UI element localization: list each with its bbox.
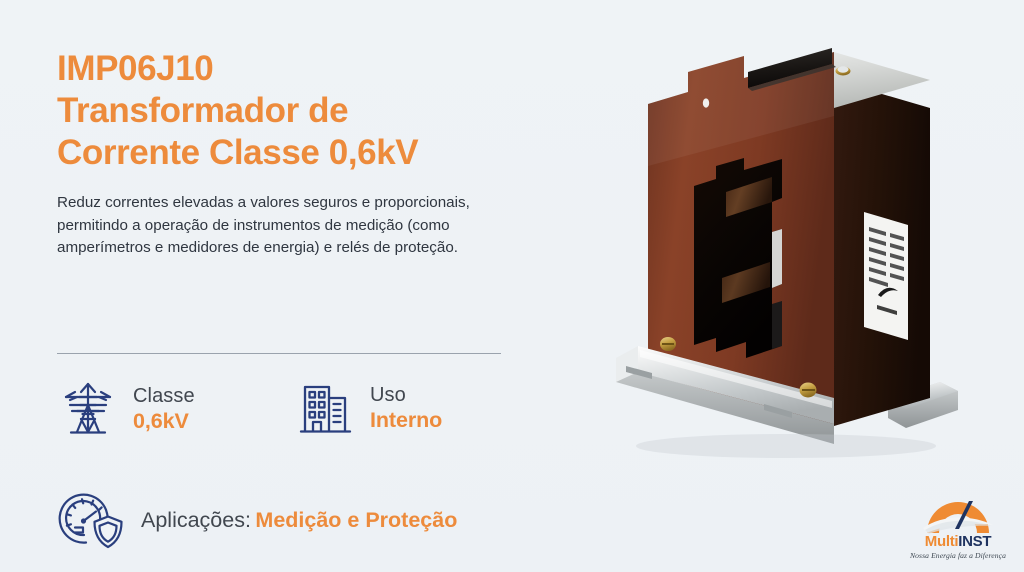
logo-tagline: Nossa Energia faz a Diferença (896, 551, 1020, 560)
feature-uso: Uso Interno (296, 378, 442, 438)
section-divider (57, 353, 501, 354)
product-description: Reduz correntes elevadas a valores segur… (57, 192, 505, 260)
feature-aplicacoes: Aplicações: Medição e Proteção (55, 486, 457, 554)
logo-word-multi: Multi (925, 533, 959, 550)
current-transformer-photo (596, 46, 1016, 496)
headline-line-1: IMP06J10 (57, 48, 527, 90)
feature-uso-value: Interno (370, 408, 442, 432)
front-vent-hole (703, 98, 709, 107)
logo-word-inst: INST (958, 533, 991, 550)
product-banner: IMP06J10 Transformador de Corrente Class… (0, 0, 1024, 572)
multiinst-logo-mark (919, 495, 997, 535)
feature-aplicacoes-label: Aplicações: (141, 508, 251, 532)
headline-line-3: Corrente Classe 0,6kV (57, 132, 527, 174)
feature-uso-label: Uso (370, 384, 442, 406)
gauge-shield-icon (55, 486, 127, 554)
feature-classe-label: Classe (133, 385, 195, 407)
transformer-window (694, 158, 782, 358)
text-column: IMP06J10 Transformador de Corrente Class… (57, 48, 527, 260)
feature-aplicacoes-value: Medição e Proteção (255, 508, 457, 532)
feature-classe: Classe 0,6kV (57, 378, 195, 440)
feature-classe-text: Classe 0,6kV (133, 385, 195, 433)
product-shadow (636, 434, 936, 458)
transmission-tower-icon (57, 378, 119, 440)
base-screw-top (660, 337, 676, 351)
logo-wordmark: MultiINST (896, 534, 1020, 549)
feature-uso-text: Uso Interno (370, 384, 442, 432)
page-title: IMP06J10 Transformador de Corrente Class… (57, 48, 527, 174)
feature-classe-value: 0,6kV (133, 409, 195, 433)
company-logo: MultiINST Nossa Energia faz a Diferença (896, 495, 1020, 561)
building-icon (296, 378, 356, 438)
base-screw-bottom (800, 383, 817, 398)
feature-aplicacoes-text: Aplicações: Medição e Proteção (141, 508, 457, 533)
headline-line-2: Transformador de (57, 90, 527, 132)
nameplate-label (864, 212, 908, 340)
